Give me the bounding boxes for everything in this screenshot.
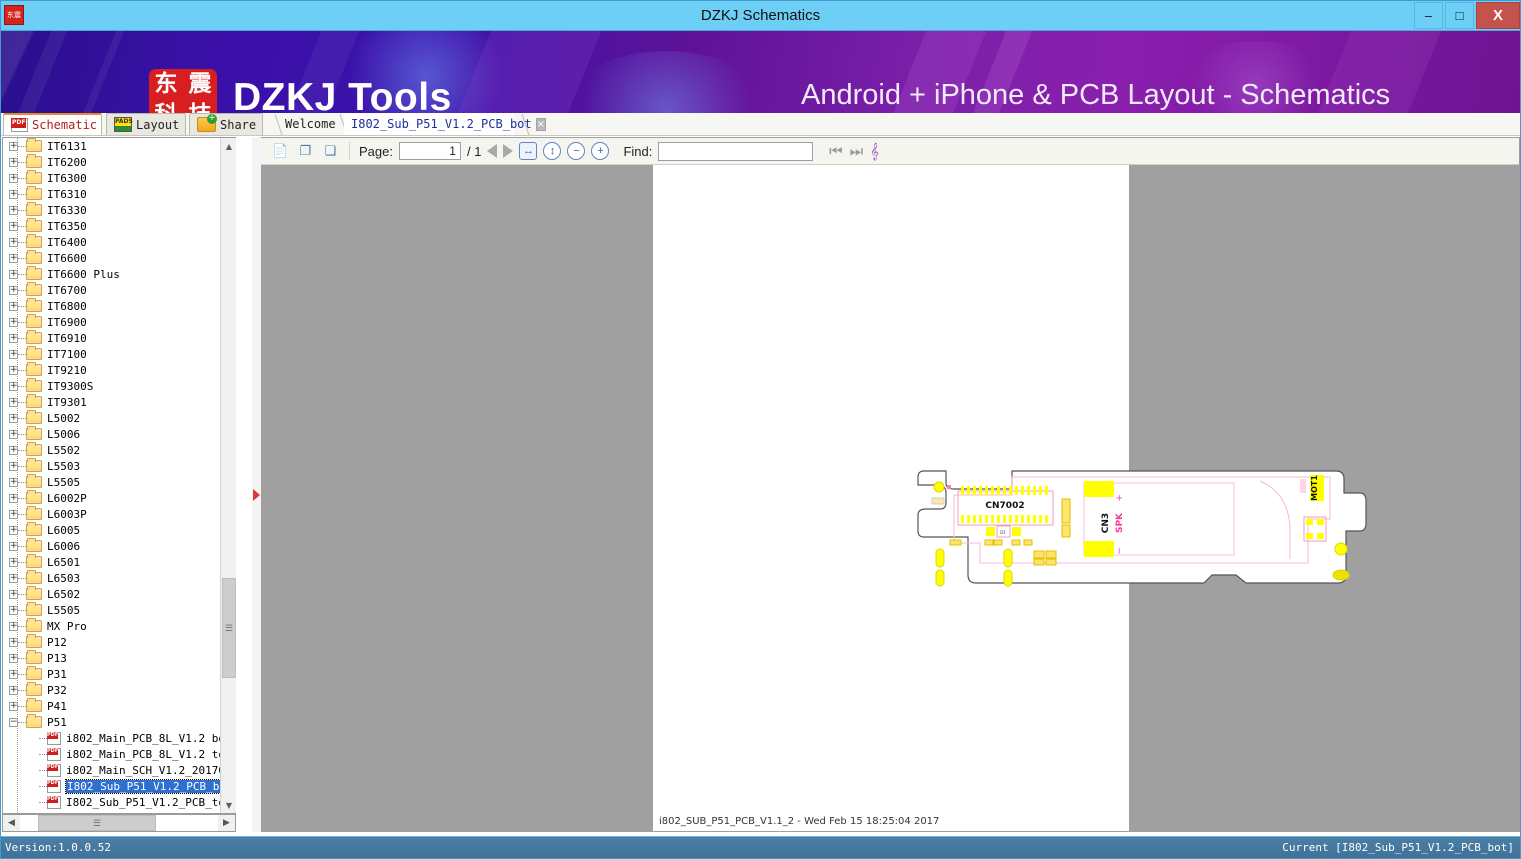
fit-width-icon[interactable]: ↔: [519, 142, 537, 160]
find-next-icon[interactable]: ⏭: [850, 143, 864, 160]
tree-folder-row[interactable]: +L5006: [9, 426, 80, 442]
expand-toggle-icon[interactable]: +: [9, 206, 18, 215]
tree-folder-row[interactable]: +L6502: [9, 586, 80, 602]
tree-connector-line: [39, 770, 47, 771]
tree-file-row[interactable]: i802_Main_PCB_8L_V1.2 bot: [39, 730, 232, 746]
pdf-toolbar: 📄 ❐ ❏ Page: 1 / 1 ↔ ↕ − + Find: ⏮ ⏭ 𝄞: [261, 138, 1519, 165]
folder-icon: [26, 492, 42, 504]
tree-folder-label: P51: [47, 716, 67, 729]
pads-icon: [114, 117, 132, 132]
tree-folder-row[interactable]: +L6002P: [9, 490, 87, 506]
tree-folder-row[interactable]: +L6503: [9, 570, 80, 586]
tree-connector-line: [18, 626, 26, 627]
file-tree-panel[interactable]: +IT6131+IT6200+IT6300+IT6310+IT6330+IT63…: [2, 137, 236, 814]
find-previous-icon[interactable]: ⏮: [829, 143, 843, 160]
tree-folder-label: IT6910: [47, 332, 87, 345]
expand-toggle-icon[interactable]: +: [9, 702, 18, 711]
tree-file-label: I802_Sub_P51_V1.2_PCB_bot: [66, 780, 234, 793]
tree-folder-label: L5002: [47, 412, 80, 425]
dzkj-logo: 东 震 科 技: [149, 69, 217, 113]
tree-file-row[interactable]: i802_Main_PCB_8L_V1.2 top: [39, 746, 232, 762]
splitter-collapse-arrow-icon[interactable]: [253, 489, 260, 501]
folder-icon: [26, 220, 42, 232]
folder-icon: [26, 412, 42, 424]
tab-share-label: Share: [220, 119, 256, 131]
tree-connector-line: [18, 146, 26, 147]
tree-folder-label: IT9210: [47, 364, 87, 377]
expand-toggle-icon[interactable]: +: [9, 510, 18, 519]
tree-connector-line: [18, 210, 26, 211]
status-bar: Version:1.0.0.52 Current [I802_Sub_P51_V…: [1, 836, 1520, 858]
tree-folder-row[interactable]: +P12: [9, 634, 67, 650]
zoom-out-icon[interactable]: −: [567, 142, 585, 160]
folder-icon: [26, 268, 42, 280]
expand-toggle-icon[interactable]: +: [9, 158, 18, 167]
scroll-down-icon[interactable]: ▼: [221, 797, 236, 813]
tree-connector-line: [18, 274, 26, 275]
tree-folder-label: P12: [47, 636, 67, 649]
tree-hscroll-track[interactable]: ☰: [20, 815, 218, 831]
tree-folder-row[interactable]: +IT6400: [9, 234, 87, 250]
pcb-mid-components: [1062, 499, 1070, 537]
folder-icon: [26, 620, 42, 632]
pcb-svg: CN7002 D1: [916, 463, 1368, 595]
tree-vertical-scrollbar[interactable]: ▲ ☰ ▼: [220, 138, 236, 813]
tree-connector-line: [18, 418, 26, 419]
tree-folder-label: L5505: [47, 604, 80, 617]
tree-connector-line: [18, 434, 26, 435]
pdf-file-icon: [47, 796, 61, 809]
tree-connector-line: [18, 258, 26, 259]
tree-folder-label: L5502: [47, 444, 80, 457]
tree-connector-line: [18, 706, 26, 707]
expand-toggle-icon[interactable]: +: [9, 462, 18, 471]
tab-layout[interactable]: Layout: [106, 113, 186, 135]
tree-folder-row[interactable]: +L5503: [9, 458, 80, 474]
tree-connector-line: [18, 226, 26, 227]
expand-toggle-icon[interactable]: +: [9, 382, 18, 391]
title-bar: 东震 DZKJ Schematics – □ X: [1, 1, 1520, 31]
expand-toggle-icon[interactable]: +: [9, 638, 18, 647]
tree-hscroll-thumb[interactable]: ☰: [38, 815, 156, 831]
spk-label: SPK: [1115, 512, 1125, 533]
expand-toggle-icon[interactable]: +: [9, 574, 18, 583]
folder-icon: [26, 572, 42, 584]
document-canvas[interactable]: i802_SUB_P51_PCB_V1.1_2 - Wed Feb 15 18:…: [261, 165, 1519, 831]
next-page-icon[interactable]: ❏: [321, 142, 340, 161]
tab-share[interactable]: Share: [189, 113, 263, 135]
folder-icon: [26, 332, 42, 344]
expand-toggle-icon[interactable]: +: [9, 190, 18, 199]
tree-file-row[interactable]: i802_Main_SCH_V1.2_20170318_1: [39, 762, 236, 778]
tree-folder-row[interactable]: +L5002: [9, 410, 80, 426]
nav-back-icon[interactable]: [487, 144, 497, 158]
expand-toggle-icon[interactable]: +: [9, 526, 18, 535]
expand-toggle-icon[interactable]: +: [9, 542, 18, 551]
tree-folder-label: L5006: [47, 428, 80, 441]
tree-file-label: i802_Main_SCH_V1.2_20170318_1: [66, 764, 236, 777]
logo-char-4: 技: [189, 104, 212, 113]
tree-connector-line: [18, 466, 26, 467]
tree-connector-line: [39, 786, 47, 787]
maximize-button[interactable]: □: [1445, 2, 1474, 29]
tree-connector-line: [18, 402, 26, 403]
tree-folder-label: IT6350: [47, 220, 87, 233]
expand-toggle-icon[interactable]: +: [9, 398, 18, 407]
tree-connector-line: [18, 322, 26, 323]
tree-file-row[interactable]: I802_Sub_P51_V1.2_PCB_top: [39, 794, 232, 810]
folder-icon: [26, 556, 42, 568]
folder-icon: [26, 668, 42, 680]
logo-char-1: 东: [155, 73, 178, 96]
tree-folder-label: IT6200: [47, 156, 87, 169]
tree-folder-row[interactable]: +P31: [9, 666, 67, 682]
expand-toggle-icon[interactable]: +: [9, 558, 18, 567]
tree-connector-line: [18, 610, 26, 611]
tree-folder-label: IT6300: [47, 172, 87, 185]
folder-icon: [26, 284, 42, 296]
expand-toggle-icon[interactable]: +: [9, 174, 18, 183]
tree-folder-label: IT6600 Plus: [47, 268, 120, 281]
close-button[interactable]: X: [1476, 2, 1520, 29]
folder-icon: [26, 236, 42, 248]
tree-connector-line: [18, 290, 26, 291]
tree-connector-line: [39, 754, 47, 755]
tree-folder-label: P31: [47, 668, 67, 681]
folder-icon: [26, 380, 42, 392]
collapse-toggle-icon[interactable]: −: [9, 718, 18, 727]
tree-connector-line: [18, 594, 26, 595]
tree-folder-label: L6503: [47, 572, 80, 585]
tree-connector-line: [18, 338, 26, 339]
tree-folder-row[interactable]: +IT9300S: [9, 378, 93, 394]
folder-icon: [26, 156, 42, 168]
expand-toggle-icon[interactable]: +: [9, 270, 18, 279]
tree-folder-label: IT9301: [47, 396, 87, 409]
pdf-file-icon: [47, 732, 61, 745]
spk-minus-label: −: [1115, 547, 1125, 555]
tree-folder-row[interactable]: +L5505: [9, 602, 80, 618]
tree-folder-label: IT9300S: [47, 380, 93, 393]
tree-folder-label: IT7100: [47, 348, 87, 361]
tree-folder-row-expanded[interactable]: −P51: [9, 714, 67, 730]
folder-icon: [26, 588, 42, 600]
minimize-button[interactable]: –: [1414, 2, 1443, 29]
product-title: DZKJ Tools: [233, 76, 452, 113]
logo-char-3: 科: [155, 104, 178, 113]
folder-icon: [26, 204, 42, 216]
tree-folder-label: MX Pro: [47, 620, 87, 633]
folder-icon: [26, 476, 42, 488]
folder-icon: [26, 444, 42, 456]
nav-forward-icon[interactable]: [503, 144, 513, 158]
tab-schematic[interactable]: Schematic: [3, 113, 102, 135]
tree-connector-line: [18, 450, 26, 451]
version-label: Version:1.0.0.52: [5, 841, 111, 854]
copy-page-icon[interactable]: 📄: [271, 142, 290, 161]
tree-folder-row[interactable]: +IT9210: [9, 362, 87, 378]
tree-connector-line: [18, 674, 26, 675]
pcb-drawing: CN7002 D1: [916, 463, 1368, 595]
tree-folder-label: IT6900: [47, 316, 87, 329]
tree-connector-line: [18, 498, 26, 499]
expand-toggle-icon[interactable]: +: [9, 286, 18, 295]
tree-folder-label: L6502: [47, 588, 80, 601]
tree-folder-label: L6005: [47, 524, 80, 537]
tree-connector-line: [18, 482, 26, 483]
tree-connector-line: [18, 194, 26, 195]
find-input[interactable]: [658, 142, 813, 161]
tree-folder-label: L6002P: [47, 492, 87, 505]
tree-folder-row[interactable]: +MX Pro: [9, 618, 87, 634]
tree-folder-row[interactable]: +IT6900: [9, 314, 87, 330]
find-label: Find:: [623, 144, 652, 159]
pdf-file-icon: [47, 780, 61, 793]
share-folder-icon: [197, 117, 216, 132]
close-icon[interactable]: ×: [536, 118, 546, 131]
expand-toggle-icon[interactable]: +: [9, 142, 18, 151]
tree-folder-label: L5503: [47, 460, 80, 473]
tree-connector-line: [18, 178, 26, 179]
banner-glow-2: [561, 51, 771, 113]
folder-icon: [26, 252, 42, 264]
tree-folder-row[interactable]: +IT6800: [9, 298, 87, 314]
tree-folder-row[interactable]: +IT6300: [9, 170, 87, 186]
expand-toggle-icon[interactable]: +: [9, 686, 18, 695]
tree-folder-row[interactable]: +L5505: [9, 474, 80, 490]
cn7002-label: CN7002: [985, 501, 1024, 511]
expand-toggle-icon[interactable]: +: [9, 238, 18, 247]
tree-connector-line: [39, 738, 47, 739]
tree-folder-row[interactable]: +L6003P: [9, 506, 87, 522]
expand-toggle-icon[interactable]: +: [9, 414, 18, 423]
fit-page-icon[interactable]: ↕: [543, 142, 561, 160]
expand-toggle-icon[interactable]: +: [9, 302, 18, 311]
folder-icon: [26, 364, 42, 376]
banner-streak-2: [68, 31, 133, 113]
pdf-viewer: 📄 ❐ ❏ Page: 1 / 1 ↔ ↕ − + Find: ⏮ ⏭ 𝄞 i8…: [261, 137, 1520, 832]
mot1-label: MOT1: [1310, 475, 1319, 501]
tab-strip: Schematic Layout Share Welcome I802_Sub_…: [1, 113, 1520, 136]
pdf-icon: [11, 118, 28, 132]
tree-connector-line: [18, 162, 26, 163]
tree-folder-label: IT6310: [47, 188, 87, 201]
tree-folder-label: P32: [47, 684, 67, 697]
pdf-file-icon: [47, 764, 61, 777]
expand-toggle-icon[interactable]: +: [9, 350, 18, 359]
folder-icon: [26, 652, 42, 664]
expand-toggle-icon[interactable]: +: [9, 334, 18, 343]
folder-icon: [26, 684, 42, 696]
banner-tagline: Android + iPhone & PCB Layout - Schemati…: [801, 79, 1390, 112]
folder-icon: [26, 172, 42, 184]
cn7002-pins-top: [961, 486, 1048, 495]
tree-connector-line: [18, 642, 26, 643]
folder-icon: [26, 716, 42, 728]
tree-folder-label: L6501: [47, 556, 80, 569]
tree-connector-line: [18, 354, 26, 355]
tree-folder-label: IT6700: [47, 284, 87, 297]
folder-icon: [26, 508, 42, 520]
tree-folder-row[interactable]: +IT6700: [9, 282, 87, 298]
tree-folder-row[interactable]: +IT6600: [9, 250, 87, 266]
tree-connector-line: [18, 386, 26, 387]
tree-folder-row[interactable]: +IT6131: [9, 138, 87, 154]
tree-file-label: i802_Main_PCB_8L_V1.2 bot: [66, 732, 232, 745]
page-total: / 1: [467, 144, 481, 159]
window-title: DZKJ Schematics: [1, 1, 1520, 31]
tree-connector-line: [18, 578, 26, 579]
expand-toggle-icon[interactable]: +: [9, 478, 18, 487]
cn3-label: CN3: [1101, 513, 1111, 533]
tree-connector-line: [18, 690, 26, 691]
folder-icon: [26, 316, 42, 328]
tree-folder-label: IT6400: [47, 236, 87, 249]
tree-folder-row[interactable]: +L5502: [9, 442, 80, 458]
tree-folder-row[interactable]: +L6006: [9, 538, 80, 554]
tree-folder-label: P13: [47, 652, 67, 665]
expand-toggle-icon[interactable]: +: [9, 606, 18, 615]
tree-connector-line: [18, 722, 26, 723]
tree-folder-label: IT6600: [47, 252, 87, 265]
find-options-icon[interactable]: 𝄞: [870, 143, 879, 160]
tree-folder-label: IT6330: [47, 204, 87, 217]
page-label: Page:: [359, 144, 393, 159]
expand-toggle-icon[interactable]: +: [9, 430, 18, 439]
toolbar-separator-1: [349, 142, 350, 160]
page-caption: i802_SUB_P51_PCB_V1.1_2 - Wed Feb 15 18:…: [659, 816, 939, 827]
tree-file-label: I802_Sub_P51_V1.2_PCB_top: [66, 796, 232, 809]
tree-folder-row[interactable]: +L6005: [9, 522, 80, 538]
find-actions: ⏮ ⏭ 𝄞: [829, 143, 1519, 160]
brand-banner: 东 震 科 技 DZKJ Tools Android + iPhone & PC…: [1, 31, 1520, 113]
expand-toggle-icon[interactable]: +: [9, 654, 18, 663]
tree-file-row[interactable]: I802_Sub_P51_V1.2_PCB_bot: [39, 778, 234, 794]
folder-icon: [26, 140, 42, 152]
tree-folder-row[interactable]: +P41: [9, 698, 67, 714]
tree-folder-row[interactable]: +IT6310: [9, 186, 87, 202]
pdf-file-icon: [47, 748, 61, 761]
folder-icon: [26, 524, 42, 536]
expand-toggle-icon[interactable]: +: [9, 222, 18, 231]
tree-folder-label: L6003P: [47, 508, 87, 521]
folder-icon: [26, 300, 42, 312]
tree-folder-label: P41: [47, 700, 67, 713]
tree-folder-row[interactable]: +L6501: [9, 554, 80, 570]
tab-document-pcb-bot[interactable]: I802_Sub_P51_V1.2_PCB_bot ×: [344, 113, 514, 135]
tree-scroll-thumb[interactable]: ☰: [222, 578, 236, 678]
svg-text:D1: D1: [1000, 530, 1006, 535]
expand-toggle-icon[interactable]: +: [9, 670, 18, 679]
expand-toggle-icon[interactable]: +: [9, 446, 18, 455]
tree-file-label: i802_Main_PCB_8L_V1.2 top: [66, 748, 232, 761]
tree-connector-line: [18, 242, 26, 243]
panel-splitter[interactable]: [252, 137, 261, 832]
tree-connector-line: [18, 530, 26, 531]
scroll-left-icon[interactable]: ◀: [3, 815, 20, 831]
tab-welcome-label: Welcome: [285, 118, 336, 130]
expand-toggle-icon[interactable]: +: [9, 494, 18, 503]
window-controls: – □ X: [1414, 1, 1520, 30]
tree-connector-line: [39, 802, 47, 803]
tree-folder-row[interactable]: +IT6200: [9, 154, 87, 170]
folder-icon: [26, 604, 42, 616]
tree-folder-row[interactable]: +P13: [9, 650, 67, 666]
tree-folder-row[interactable]: +IT6600 Plus: [9, 266, 120, 282]
expand-toggle-icon[interactable]: +: [9, 254, 18, 263]
tree-folder-row[interactable]: +IT6330: [9, 202, 87, 218]
tab-schematic-label: Schematic: [32, 119, 97, 131]
folder-icon: [26, 540, 42, 552]
folder-icon: [26, 460, 42, 472]
folder-icon: [26, 348, 42, 360]
tree-connector-line: [18, 370, 26, 371]
tree-connector-line: [18, 546, 26, 547]
tree-folder-row[interactable]: +IT7100: [9, 346, 87, 362]
zoom-in-icon[interactable]: +: [591, 142, 609, 160]
tab-document-label: I802_Sub_P51_V1.2_PCB_bot: [351, 118, 532, 130]
folder-icon: [26, 428, 42, 440]
current-file-label: Current [I802_Sub_P51_V1.2_PCB_bot]: [1282, 841, 1514, 854]
tree-connector-line: [18, 306, 26, 307]
tree-folder-row[interactable]: +IT9301: [9, 394, 87, 410]
logo-char-2: 震: [189, 73, 212, 96]
expand-toggle-icon[interactable]: +: [9, 366, 18, 375]
tab-layout-label: Layout: [136, 119, 179, 131]
previous-page-icon[interactable]: ❐: [296, 142, 315, 161]
page-input[interactable]: 1: [399, 142, 461, 160]
scroll-right-icon[interactable]: ▶: [218, 815, 235, 831]
expand-toggle-icon[interactable]: +: [9, 622, 18, 631]
scroll-up-icon[interactable]: ▲: [221, 138, 236, 154]
folder-icon: [26, 188, 42, 200]
tree-folder-label: L6006: [47, 540, 80, 553]
tree-connector-line: [18, 658, 26, 659]
tree-folder-row[interactable]: +IT6350: [9, 218, 87, 234]
folder-icon: [26, 636, 42, 648]
folder-icon: [26, 700, 42, 712]
cn7002-pins-bottom: [961, 515, 1048, 523]
tree-folder-label: L5505: [47, 476, 80, 489]
tree-connector-line: [18, 514, 26, 515]
tree-folder-label: IT6131: [47, 140, 87, 153]
tree-folder-row[interactable]: +IT6910: [9, 330, 87, 346]
tree-folder-label: IT6800: [47, 300, 87, 313]
expand-toggle-icon[interactable]: +: [9, 590, 18, 599]
tree-connector-line: [18, 562, 26, 563]
tree-folder-row[interactable]: +P32: [9, 682, 67, 698]
expand-toggle-icon[interactable]: +: [9, 318, 18, 327]
application-window: 东震 DZKJ Schematics – □ X 东 震 科 技 DZKJ To…: [0, 0, 1521, 859]
tree-horizontal-scrollbar[interactable]: ◀ ☰ ▶: [2, 814, 236, 832]
folder-icon: [26, 396, 42, 408]
banner-streak-1: [3, 31, 76, 113]
spk-plus-label: +: [1115, 494, 1125, 502]
